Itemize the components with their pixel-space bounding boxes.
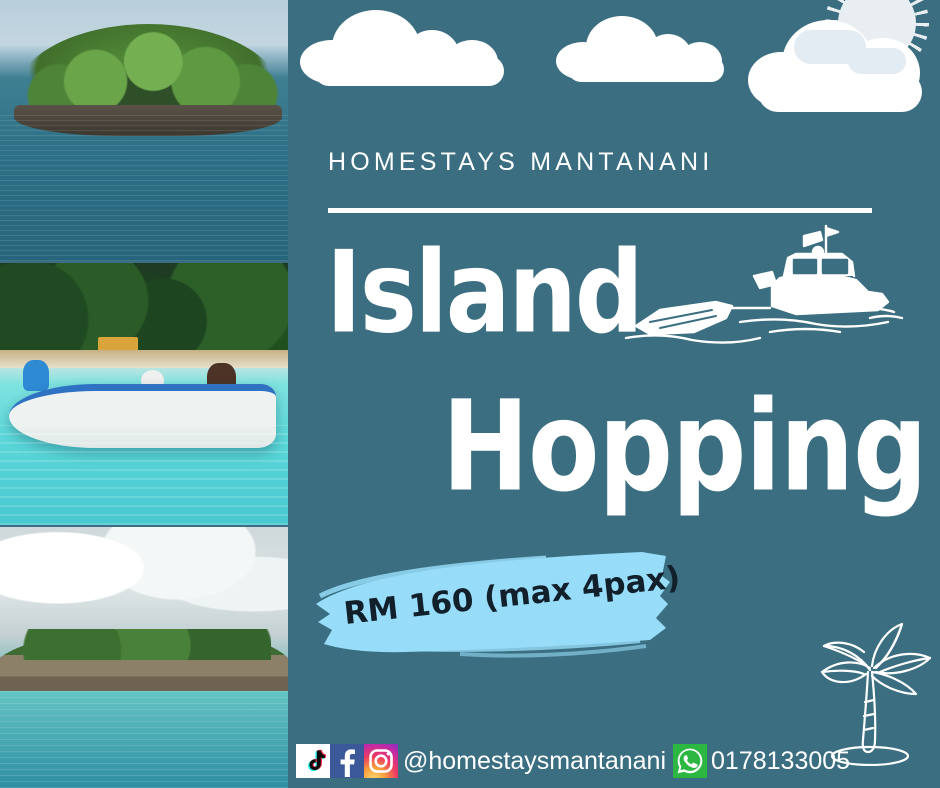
content-panel: HOMESTAYS MANTANANI Island Hopping (288, 0, 940, 788)
cloud-middle-icon (556, 14, 736, 80)
island-vegetation (6, 629, 271, 660)
photo-boat-shallows (0, 261, 288, 524)
boat-illustration-icon (620, 222, 910, 348)
island-canopy (17, 26, 279, 104)
phone-number[interactable]: 0178133005 (711, 747, 850, 776)
person-front (23, 360, 49, 391)
whatsapp-icon[interactable] (673, 744, 707, 778)
headline-line-1: Island (326, 236, 642, 349)
water-ripples (0, 425, 288, 524)
photo-island-aerial (0, 0, 288, 261)
instagram-icon[interactable] (364, 744, 398, 778)
cloud-left-icon (300, 6, 520, 84)
price-banner: RM 160 (max 4pax) (310, 534, 690, 662)
facebook-icon[interactable] (330, 744, 364, 778)
photo-column (0, 0, 288, 788)
divider-rule (328, 208, 872, 213)
treeline (0, 263, 288, 357)
sea-surface (0, 691, 288, 788)
sea-texture (0, 115, 288, 261)
tiktok-icon[interactable] (296, 744, 330, 778)
headline-line-2: Hopping (442, 384, 927, 509)
brand-name: HOMESTAYS MANTANANI (328, 148, 713, 177)
poster: HOMESTAYS MANTANANI Island Hopping (0, 0, 940, 788)
social-handle[interactable]: @homestaysmantanani (403, 747, 666, 776)
photo-rocky-island (0, 525, 288, 788)
cloud-right-icon (748, 8, 928, 118)
footer-contact-bar: @homestaysmantanani 0178133005 (296, 744, 850, 778)
